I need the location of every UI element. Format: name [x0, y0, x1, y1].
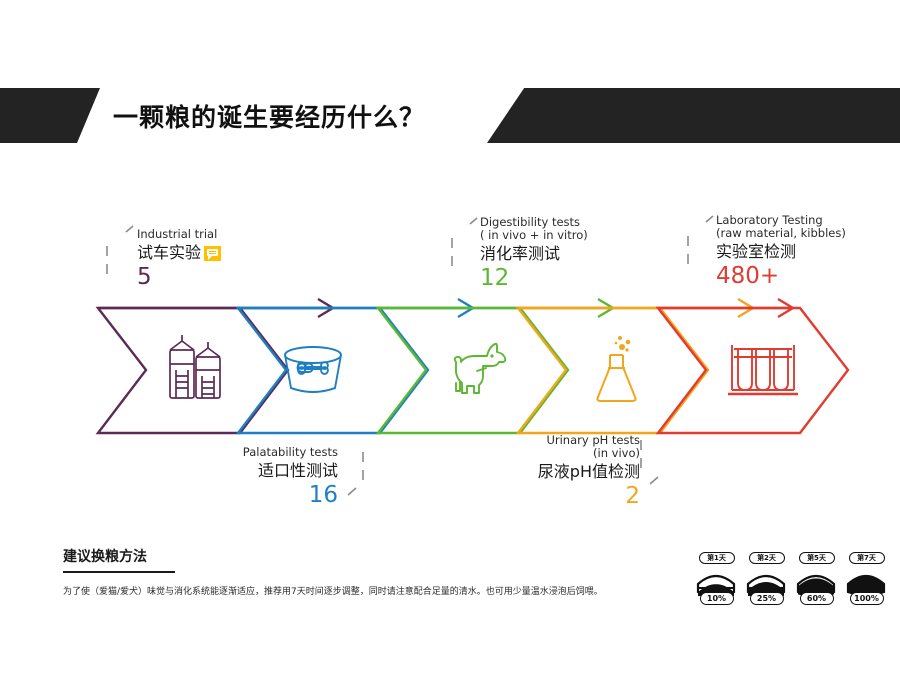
callout-palatability-tests: Palatability tests 适口性测试 16 — [163, 446, 338, 508]
callout-num-2: 16 — [163, 482, 338, 508]
bowl-item: 第2天 25% — [744, 552, 789, 605]
flask-icon — [597, 336, 635, 401]
footer-heading: 建议换粮方法 — [63, 546, 147, 566]
bowl-pct-label: 60% — [800, 592, 834, 605]
stage-chevron-laboratory-testing — [658, 299, 848, 433]
stage-chevron-industrial-trial — [98, 299, 333, 433]
footer-body: 为了使（爱猫/爱犬）味觉与消化系统能逐渐适应，推荐用7天时间逐步调整，同时请注意… — [63, 585, 663, 599]
dog-icon — [455, 344, 506, 393]
feeding-transition-bowls: 第1天 10% 第2天 25% 第5天 — [694, 552, 889, 605]
stage-chevron-urinary-ph-tests — [518, 299, 753, 433]
stage-chevron-digestibility-tests — [378, 299, 613, 433]
callout-cn-5: 实验室检测 — [716, 241, 846, 263]
callout-num-4: 2 — [465, 483, 640, 509]
stage-chevron-palatability-tests — [238, 299, 473, 433]
callout-num-3: 12 — [480, 265, 588, 291]
callout-en2-3: ( in vivo + in vitro) — [480, 229, 588, 242]
callout-num-5: 480+ — [716, 263, 846, 289]
test-tubes-icon — [728, 345, 798, 394]
banner-right-shape — [487, 88, 900, 143]
callout-en2-4: (in vivo) — [465, 447, 640, 460]
callout-num-1: 5 — [137, 264, 221, 290]
banner-left-shape — [0, 88, 100, 143]
callout-cn-3: 消化率测试 — [480, 243, 588, 265]
callout-cn-4: 尿液pH值检测 — [465, 461, 640, 483]
silos-icon — [170, 335, 220, 398]
callout-en-1: Industrial trial — [137, 228, 221, 241]
callout-laboratory-testing: Laboratory Testing (raw material, kibble… — [716, 214, 846, 289]
bowl-pct-label: 25% — [750, 592, 784, 605]
bowl-day-label: 第1天 — [699, 552, 735, 564]
page-title: 一颗粮的诞生要经历什么？ — [113, 88, 425, 143]
callout-cn-2: 适口性测试 — [163, 460, 338, 482]
footer-rule — [63, 571, 175, 573]
dog-bowl-icon — [285, 347, 341, 392]
bowl-day-label: 第5天 — [799, 552, 835, 564]
infographic-root: 一颗粮的诞生要经历什么？ — [0, 0, 900, 675]
bowl-day-label: 第2天 — [749, 552, 785, 564]
comment-icon[interactable] — [204, 246, 221, 261]
bowl-item: 第5天 60% — [794, 552, 839, 605]
bowl-pct-label: 100% — [850, 592, 884, 605]
callout-en-2: Palatability tests — [163, 446, 338, 459]
bowl-pct-label: 10% — [700, 592, 734, 605]
callout-en2-5: (raw material, kibbles) — [716, 227, 846, 240]
title-banner: 一颗粮的诞生要经历什么？ — [0, 88, 900, 143]
bowl-day-label: 第7天 — [849, 552, 885, 564]
bowl-item: 第1天 10% — [694, 552, 739, 605]
callout-cn-1: 试车实验 — [137, 242, 201, 264]
bowl-item: 第7天 100% — [844, 552, 889, 605]
callout-industrial-trial: Industrial trial 试车实验 5 — [137, 228, 221, 290]
callout-digestibility-tests: Digestibility tests ( in vivo + in vitro… — [480, 216, 588, 291]
callout-urinary-ph-tests: Urinary pH tests (in vivo) 尿液pH值检测 2 — [465, 434, 640, 509]
